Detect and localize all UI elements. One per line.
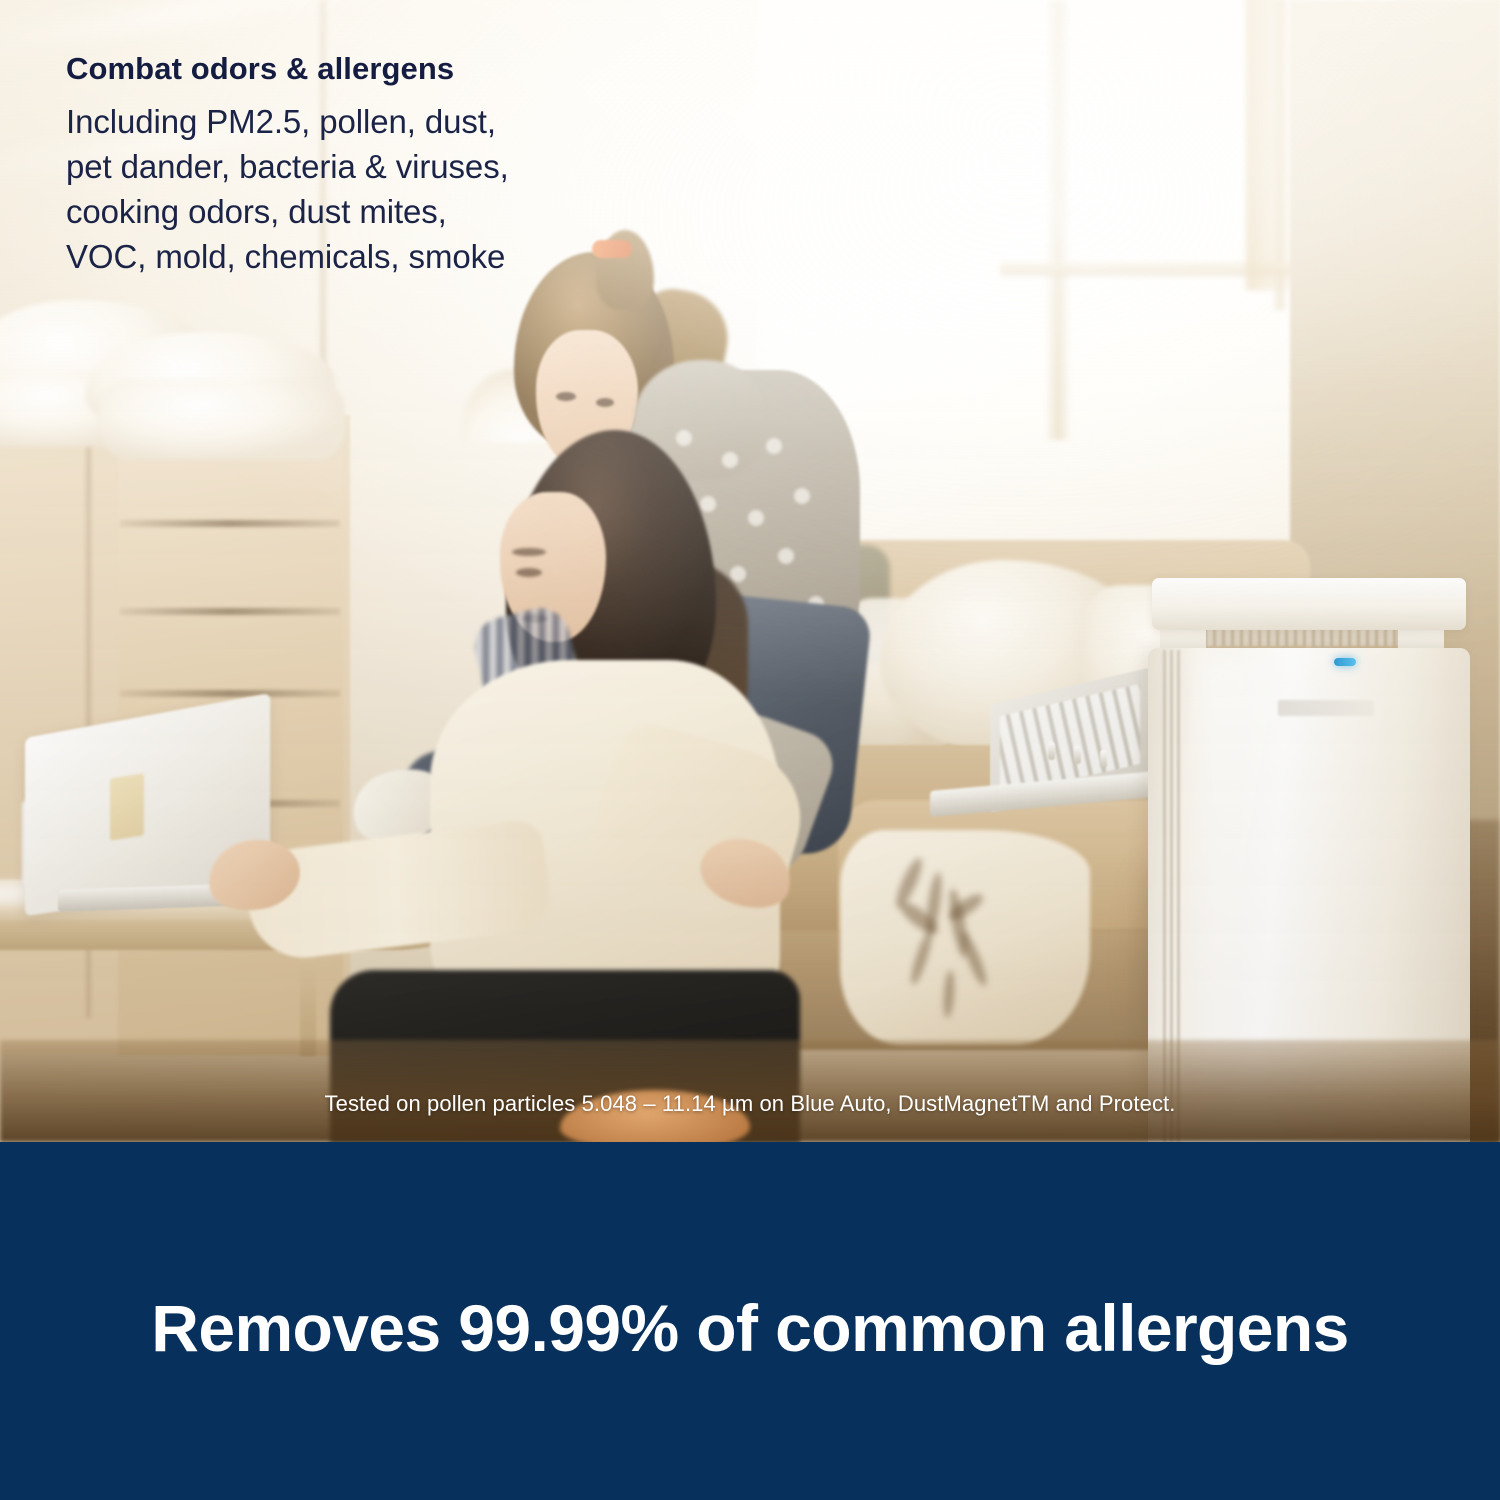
hoodie-dot bbox=[766, 438, 782, 454]
copy-block: Combat odors & allergens Including PM2.5… bbox=[66, 52, 686, 279]
hoodie-dot bbox=[730, 566, 746, 582]
claim-banner: Removes 99.99% of common allergens bbox=[0, 1142, 1500, 1500]
hoodie-dot bbox=[748, 510, 764, 526]
product-marketing-panel: Combat odors & allergens Including PM2.5… bbox=[0, 0, 1500, 1500]
pillow bbox=[100, 380, 345, 460]
keyboard-highlight bbox=[1074, 746, 1081, 764]
drawer-seam bbox=[120, 520, 340, 527]
girl-eye bbox=[596, 398, 614, 407]
purifier-led-indicator bbox=[1334, 658, 1356, 666]
hoodie-dot bbox=[676, 430, 692, 446]
hoodie-dot bbox=[700, 496, 716, 512]
woman-eye bbox=[516, 568, 542, 577]
page-title: Combat odors & allergens bbox=[66, 52, 686, 86]
purifier-top-tray bbox=[1152, 578, 1466, 630]
drawer-seam bbox=[120, 690, 340, 697]
body-line-3: cooking odors, dust mites, bbox=[66, 189, 686, 234]
lifestyle-photo: Combat odors & allergens Including PM2.5… bbox=[0, 0, 1500, 1142]
hoodie-dot bbox=[778, 548, 794, 564]
laptop-sticker bbox=[110, 773, 144, 840]
body-line-1: Including PM2.5, pollen, dust, bbox=[66, 99, 686, 144]
hoodie-dot bbox=[722, 452, 738, 468]
keyboard-highlight bbox=[1100, 750, 1107, 768]
drawer-seam bbox=[120, 608, 340, 615]
hoodie-dot bbox=[794, 488, 810, 504]
footnote-disclaimer: Tested on pollen particles 5.048 – 11.14… bbox=[0, 1091, 1500, 1117]
girl-eye bbox=[556, 392, 576, 401]
body-line-4: VOC, mold, chemicals, smoke bbox=[66, 234, 686, 279]
purifier-brand-logo bbox=[1278, 700, 1374, 716]
keyboard-highlight bbox=[1048, 742, 1055, 760]
body-line-2: pet dander, bacteria & viruses, bbox=[66, 144, 686, 189]
claim-banner-text: Removes 99.99% of common allergens bbox=[151, 1295, 1348, 1361]
woman-brow bbox=[512, 548, 546, 556]
